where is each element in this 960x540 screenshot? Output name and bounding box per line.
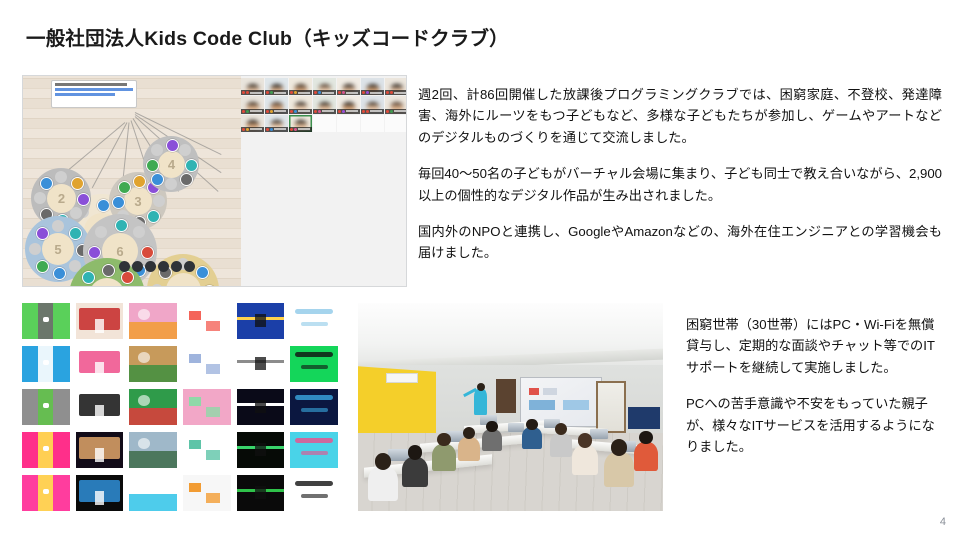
facilitator-head bbox=[477, 383, 485, 391]
video-participant-tile[interactable] bbox=[361, 78, 384, 95]
empty-seat[interactable] bbox=[165, 178, 177, 190]
project-thumbnail-night-hill-scene[interactable] bbox=[237, 475, 285, 511]
thumb-shape-stroke bbox=[295, 438, 333, 442]
project-thumbnail-neon-wheel-scene[interactable] bbox=[237, 432, 285, 468]
project-thumbnail-red-blocks-puzzle[interactable] bbox=[183, 303, 231, 339]
video-participant-tile[interactable] bbox=[337, 78, 360, 95]
empty-seat[interactable] bbox=[34, 192, 46, 204]
project-thumbnail-circle-target-scene[interactable] bbox=[237, 346, 285, 382]
participant-avatar[interactable] bbox=[185, 159, 198, 172]
thumb-shape-object bbox=[255, 400, 266, 413]
classroom-photo bbox=[358, 303, 663, 511]
project-thumbnail-cyan-wheel-diagram[interactable] bbox=[129, 475, 177, 511]
participant-name-text bbox=[370, 110, 382, 112]
paragraph-2: 毎回40〜50名の子どもがバーチャル会場に集まり、子ども同士で教え合いながら、2… bbox=[418, 163, 942, 206]
project-thumbnail-black-box-scene[interactable] bbox=[76, 389, 124, 425]
participant-avatar[interactable] bbox=[69, 227, 82, 240]
video-empty-tile[interactable] bbox=[337, 115, 360, 132]
avatar-icon bbox=[342, 91, 345, 94]
participant-name-text bbox=[298, 92, 310, 94]
participant-name-text bbox=[346, 110, 358, 112]
participant-avatar[interactable] bbox=[77, 193, 90, 206]
video-participant-tile[interactable] bbox=[289, 115, 312, 132]
mic-muted-icon bbox=[338, 110, 341, 113]
participant-avatar[interactable] bbox=[88, 246, 101, 259]
toolbar-button-settings[interactable] bbox=[184, 261, 195, 272]
thumb-shape-stroke bbox=[301, 408, 328, 412]
participant-avatar[interactable] bbox=[141, 246, 154, 259]
participant-name-text bbox=[346, 92, 358, 94]
empty-seat[interactable] bbox=[133, 226, 145, 238]
person-head-6 bbox=[526, 419, 537, 430]
participant-avatar[interactable] bbox=[180, 173, 193, 186]
person-body-5 bbox=[482, 429, 502, 451]
thumb-shape-object bbox=[43, 403, 49, 409]
video-participant-tile[interactable] bbox=[337, 96, 360, 113]
participant-avatar[interactable] bbox=[71, 177, 84, 190]
avatar-icon bbox=[294, 91, 297, 94]
avatar-icon bbox=[342, 110, 345, 113]
thumb-shape-object bbox=[43, 489, 49, 495]
video-participant-tile[interactable] bbox=[313, 96, 336, 113]
project-thumbnail-galaxy-chat-scene[interactable] bbox=[290, 389, 338, 425]
project-thumbnail-fortune-wheel-chart[interactable] bbox=[183, 432, 231, 468]
participant-name-text bbox=[298, 110, 310, 112]
thumb-shape-block bbox=[206, 321, 220, 331]
empty-seat[interactable] bbox=[55, 171, 67, 183]
empty-seat[interactable] bbox=[179, 144, 191, 156]
video-participant-tile[interactable] bbox=[385, 78, 407, 95]
project-thumbnail-galaxy-spiral-scene[interactable] bbox=[76, 432, 124, 468]
video-empty-tile[interactable] bbox=[385, 115, 407, 132]
mic-muted-icon bbox=[266, 110, 269, 113]
person-body-8 bbox=[572, 445, 598, 475]
description-text-bottom: 困窮世帯（30世帯）にはPC・Wi-Fiを無償貸与し、定期的な面談やチャット等で… bbox=[686, 314, 944, 457]
avatar-icon bbox=[294, 128, 297, 131]
empty-seat[interactable] bbox=[70, 207, 82, 219]
thumb-shape-block bbox=[189, 397, 201, 406]
mic-muted-icon bbox=[386, 110, 389, 113]
thumb-shape-object bbox=[255, 314, 266, 327]
chat-bubble[interactable] bbox=[51, 80, 137, 108]
thumb-shape-ground bbox=[129, 494, 177, 511]
thumb-shape-block bbox=[206, 450, 220, 460]
thumb-shape-object bbox=[138, 438, 150, 449]
paragraph-2: PCへの苦手意識や不安をもっていた親子が、様々なITサービスを活用するようになり… bbox=[686, 393, 944, 457]
mic-muted-icon bbox=[242, 91, 245, 94]
thumb-shape-stroke bbox=[295, 309, 333, 313]
participant-name-bar bbox=[337, 109, 360, 114]
avatar-icon bbox=[318, 91, 321, 94]
video-participant-tile[interactable] bbox=[361, 96, 384, 113]
empty-seat[interactable] bbox=[52, 220, 64, 232]
participant-name-text bbox=[370, 92, 382, 94]
chat-bubble-text-line bbox=[55, 83, 127, 86]
participant-name-bar bbox=[313, 109, 336, 114]
participant-name-bar bbox=[385, 90, 407, 95]
venue-table-4[interactable]: 4 bbox=[143, 136, 199, 192]
thumb-shape-block bbox=[206, 407, 220, 417]
thumb-shape-object bbox=[43, 317, 49, 323]
participant-avatar[interactable] bbox=[118, 181, 131, 194]
participant-name-text bbox=[322, 110, 334, 112]
mic-muted-icon bbox=[314, 110, 317, 113]
thumb-shape-object bbox=[43, 360, 49, 366]
participant-name-bar bbox=[361, 109, 384, 114]
thumb-shape-stroke bbox=[301, 451, 328, 455]
thumb-shape-ground bbox=[129, 322, 177, 339]
mic-muted-icon bbox=[338, 91, 341, 94]
mic-muted-icon bbox=[290, 91, 293, 94]
thumb-shape-block bbox=[189, 483, 201, 492]
participant-name-bar bbox=[289, 90, 312, 95]
project-thumbnail-physics-line-game[interactable] bbox=[290, 475, 338, 511]
person-head-9 bbox=[611, 439, 628, 456]
thumb-shape-stroke bbox=[295, 352, 333, 356]
video-participant-tile[interactable] bbox=[265, 115, 288, 132]
participant-name-text bbox=[274, 110, 286, 112]
person-body-7 bbox=[550, 433, 572, 457]
participant-name-bar bbox=[337, 90, 360, 95]
virtual-venue-screenshot: 12356784 bbox=[22, 75, 407, 287]
project-thumbnail-black-stripes-scene[interactable] bbox=[76, 475, 124, 511]
project-thumbnail-tunnel-3d-maze[interactable] bbox=[237, 303, 285, 339]
person-head-10 bbox=[639, 431, 652, 444]
participant-name-bar bbox=[241, 109, 264, 114]
toolbar-button-camera[interactable] bbox=[132, 261, 143, 272]
paragraph-1: 週2回、計86回開催した放課後プログラミングクラブでは、困窮家庭、不登校、発達障… bbox=[418, 84, 942, 148]
participant-name-text bbox=[394, 92, 406, 94]
video-empty-tile[interactable] bbox=[313, 115, 336, 132]
video-participant-tile[interactable] bbox=[289, 96, 312, 113]
project-thumbnail-mountain-road-scene[interactable] bbox=[129, 432, 177, 468]
laptop-4 bbox=[508, 423, 524, 432]
participant-avatar[interactable] bbox=[53, 267, 66, 280]
toolbar-button-mic[interactable] bbox=[119, 261, 130, 272]
person-body-4 bbox=[458, 437, 480, 461]
project-thumbnail-ball-game-title[interactable] bbox=[290, 432, 338, 468]
project-thumbnail-forest-runner-game[interactable] bbox=[129, 389, 177, 425]
toolbar-button-screenshare[interactable] bbox=[145, 261, 156, 272]
empty-seat[interactable] bbox=[29, 243, 41, 255]
project-thumbnail-scratch-code-blocks[interactable] bbox=[183, 475, 231, 511]
avatar-icon bbox=[270, 110, 273, 113]
thumb-shape-object bbox=[138, 309, 150, 320]
project-thumbnail-grid bbox=[22, 303, 338, 511]
project-thumbnail-rock-monster-scene[interactable] bbox=[22, 389, 70, 425]
chat-bubble-link-line bbox=[55, 93, 115, 96]
participant-name-text bbox=[250, 92, 262, 94]
venue-toolbar[interactable] bbox=[119, 261, 195, 272]
participant-avatar[interactable] bbox=[112, 196, 125, 209]
avatar-icon bbox=[366, 110, 369, 113]
thumb-shape-block bbox=[189, 354, 201, 363]
avatar-icon bbox=[366, 91, 369, 94]
project-thumbnail-line-drawing-sketch[interactable] bbox=[290, 303, 338, 339]
toolbar-button-chat[interactable] bbox=[158, 261, 169, 272]
thumb-shape-object bbox=[138, 395, 150, 406]
project-thumbnail-grid-pattern-scene[interactable] bbox=[183, 346, 231, 382]
person-body-6 bbox=[522, 427, 542, 449]
participant-name-bar bbox=[241, 127, 264, 132]
video-participant-tile[interactable] bbox=[385, 96, 407, 113]
project-thumbnail-space-ring-scene[interactable] bbox=[237, 389, 285, 425]
participant-avatar[interactable] bbox=[121, 271, 134, 284]
person-head-3 bbox=[437, 433, 450, 446]
video-empty-tile[interactable] bbox=[361, 115, 384, 132]
thumb-shape-object bbox=[255, 486, 266, 499]
thumb-shape-object bbox=[95, 491, 105, 505]
participant-name-bar bbox=[289, 109, 312, 114]
mic-muted-icon bbox=[290, 128, 293, 131]
project-thumbnail-ice-cream-scene[interactable] bbox=[183, 389, 231, 425]
thumb-shape-ground bbox=[129, 365, 177, 382]
mic-muted-icon bbox=[266, 128, 269, 131]
project-thumbnail-cat-adventure-title[interactable] bbox=[22, 346, 70, 382]
participant-avatar[interactable] bbox=[166, 139, 179, 152]
video-participant-tile[interactable] bbox=[241, 96, 264, 113]
video-participant-tile[interactable] bbox=[241, 78, 264, 95]
participant-name-text bbox=[298, 128, 310, 130]
thumb-shape-ground bbox=[129, 451, 177, 468]
toolbar-button-emoji[interactable] bbox=[171, 261, 182, 272]
person-head-2 bbox=[408, 445, 423, 460]
thumb-shape-object bbox=[95, 319, 105, 333]
avatar-icon bbox=[390, 91, 393, 94]
chat-bubble-link-line bbox=[55, 88, 133, 91]
mic-muted-icon bbox=[242, 110, 245, 113]
participant-avatar[interactable] bbox=[147, 210, 160, 223]
project-thumbnail-baseball-field-game[interactable] bbox=[129, 346, 177, 382]
thumb-shape-stroke bbox=[295, 481, 333, 485]
person-body-10 bbox=[634, 442, 658, 471]
thumb-shape-object bbox=[43, 446, 49, 452]
virtual-venue-map: 12356784 bbox=[23, 76, 241, 287]
paragraph-1: 困窮世帯（30世帯）にはPC・Wi-Fiを無償貸与し、定期的な面談やチャット等で… bbox=[686, 314, 944, 378]
video-participant-tile[interactable] bbox=[265, 78, 288, 95]
participant-name-bar bbox=[361, 90, 384, 95]
thumb-shape-object bbox=[95, 405, 105, 419]
mic-muted-icon bbox=[266, 91, 269, 94]
project-thumbnail-race-title-card[interactable] bbox=[22, 475, 70, 511]
thumb-shape-ground bbox=[129, 408, 177, 425]
participant-name-bar bbox=[385, 109, 407, 114]
participant-name-bar bbox=[265, 90, 288, 95]
project-thumbnail-green-platform-game[interactable] bbox=[290, 346, 338, 382]
thumb-shape-object bbox=[138, 481, 150, 492]
video-call-grid bbox=[241, 76, 407, 287]
avatar-icon bbox=[270, 128, 273, 131]
mic-muted-icon bbox=[362, 110, 365, 113]
project-thumbnail-quiz-title-card[interactable] bbox=[76, 346, 124, 382]
avatar-icon bbox=[294, 110, 297, 113]
avatar-icon bbox=[318, 110, 321, 113]
laptop-6 bbox=[590, 429, 608, 439]
avatar-icon bbox=[246, 91, 249, 94]
participant-name-bar bbox=[265, 109, 288, 114]
desks-and-people bbox=[358, 303, 663, 511]
avatar-icon bbox=[390, 110, 393, 113]
thumb-shape-stroke bbox=[301, 365, 328, 369]
empty-seat[interactable] bbox=[153, 195, 165, 207]
video-participant-tile[interactable] bbox=[241, 115, 264, 132]
project-thumbnail-stage-theater-scene[interactable] bbox=[76, 303, 124, 339]
participant-avatar[interactable] bbox=[36, 260, 49, 273]
paragraph-3: 国内外のNPOと連携し、GoogleやAmazonなどの、海外在住エンジニアとの… bbox=[418, 221, 942, 264]
thumb-shape-stroke bbox=[301, 322, 328, 326]
avatar-icon bbox=[270, 91, 273, 94]
participant-avatar[interactable] bbox=[146, 159, 159, 172]
empty-seat[interactable] bbox=[151, 144, 163, 156]
page-number: 4 bbox=[940, 516, 946, 528]
mic-muted-icon bbox=[386, 91, 389, 94]
participant-name-bar bbox=[289, 127, 312, 132]
video-participant-tile[interactable] bbox=[289, 78, 312, 95]
thumb-shape-object bbox=[255, 357, 266, 370]
thumb-shape-object bbox=[95, 448, 105, 462]
mic-muted-icon bbox=[314, 91, 317, 94]
mic-muted-icon bbox=[290, 110, 293, 113]
participant-name-text bbox=[274, 92, 286, 94]
participant-name-text bbox=[250, 128, 262, 130]
participant-name-text bbox=[394, 110, 406, 112]
participant-name-text bbox=[250, 110, 262, 112]
thumb-shape-object bbox=[138, 352, 150, 363]
thumb-shape-stroke bbox=[295, 395, 333, 399]
video-participant-tile[interactable] bbox=[265, 96, 288, 113]
thumb-shape-stroke bbox=[301, 494, 328, 498]
thumb-shape-block bbox=[206, 493, 220, 503]
video-participant-tile[interactable] bbox=[313, 78, 336, 95]
person-body-1 bbox=[368, 466, 398, 501]
participant-name-text bbox=[274, 128, 286, 130]
participant-avatar[interactable] bbox=[196, 266, 209, 279]
participant-name-text bbox=[322, 92, 334, 94]
participant-name-bar bbox=[313, 90, 336, 95]
description-text-top: 週2回、計86回開催した放課後プログラミングクラブでは、困窮家庭、不登校、発達障… bbox=[418, 84, 942, 264]
avatar-icon bbox=[246, 128, 249, 131]
participant-avatar[interactable] bbox=[97, 199, 110, 212]
person-head-5 bbox=[486, 421, 497, 432]
person-head-8 bbox=[578, 433, 593, 448]
participant-avatar[interactable] bbox=[102, 264, 115, 277]
thumb-shape-block bbox=[206, 364, 220, 374]
facilitator-body bbox=[474, 389, 487, 415]
participant-name-bar bbox=[265, 127, 288, 132]
thumb-shape-object bbox=[95, 362, 105, 376]
mic-muted-icon bbox=[362, 91, 365, 94]
person-body-9 bbox=[604, 452, 634, 487]
person-head-1 bbox=[375, 453, 392, 470]
project-thumbnail-road-and-car-game[interactable] bbox=[22, 303, 70, 339]
participant-avatar[interactable] bbox=[151, 173, 164, 186]
project-thumbnail-fairy-sky-scene[interactable] bbox=[129, 303, 177, 339]
participant-avatar[interactable] bbox=[36, 227, 49, 240]
participant-avatar[interactable] bbox=[133, 175, 146, 188]
person-body-2 bbox=[402, 457, 428, 487]
participant-avatar[interactable] bbox=[115, 219, 128, 232]
project-thumbnail-abstract-color-art[interactable] bbox=[22, 432, 70, 468]
mic-muted-icon bbox=[242, 128, 245, 131]
thumb-shape-block bbox=[189, 311, 201, 320]
person-body-3 bbox=[432, 444, 456, 471]
thumb-shape-block bbox=[189, 440, 201, 449]
participant-name-bar bbox=[241, 90, 264, 95]
page-title: 一般社団法人Kids Code Club（キッズコードクラブ） bbox=[26, 22, 926, 51]
thumb-shape-object bbox=[255, 443, 266, 456]
avatar-icon bbox=[246, 110, 249, 113]
